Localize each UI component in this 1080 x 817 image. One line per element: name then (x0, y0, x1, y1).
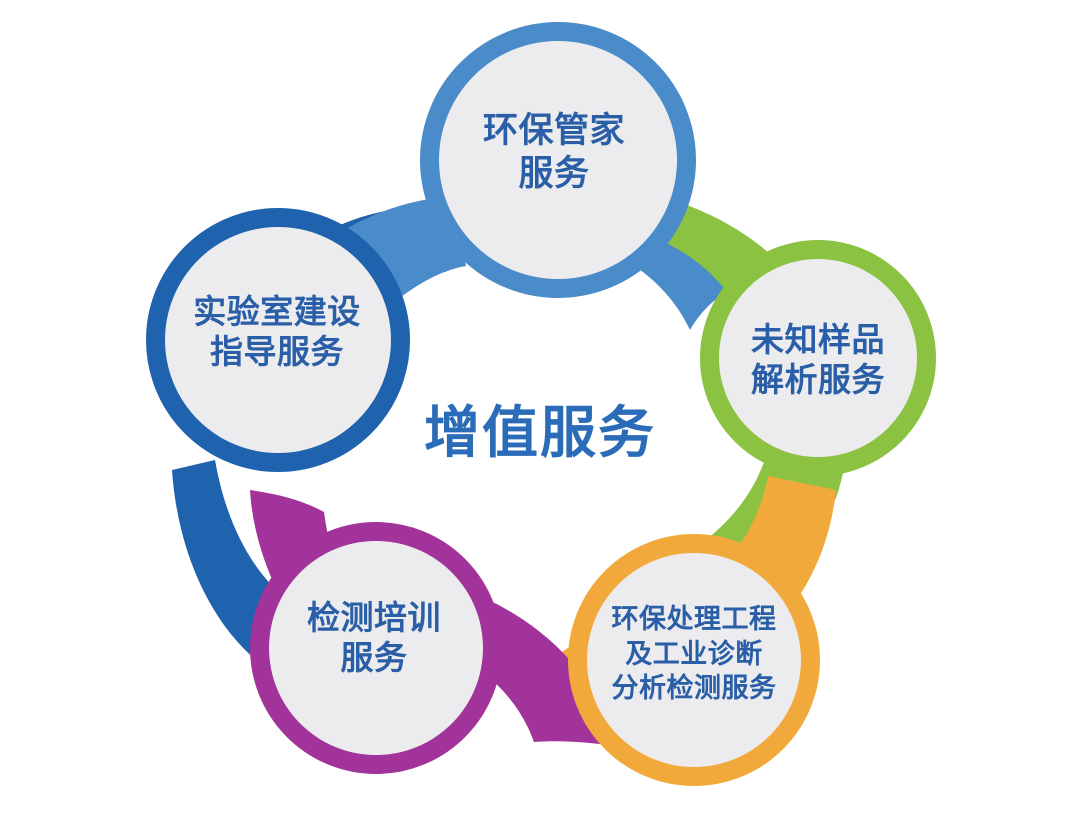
petal-fill-bottomright (587, 553, 801, 767)
petal-fill-left (165, 227, 391, 453)
petal-cycle-graphic (0, 0, 1080, 817)
infographic-diagram: 环保管家 服务 未知样品 解析服务 环保处理工程 及工业诊断 分析检测服务 检测… (0, 0, 1080, 817)
petal-fill-top (439, 41, 677, 279)
petal-fill-right (719, 259, 917, 457)
petal-fill-bottomleft (269, 541, 483, 755)
